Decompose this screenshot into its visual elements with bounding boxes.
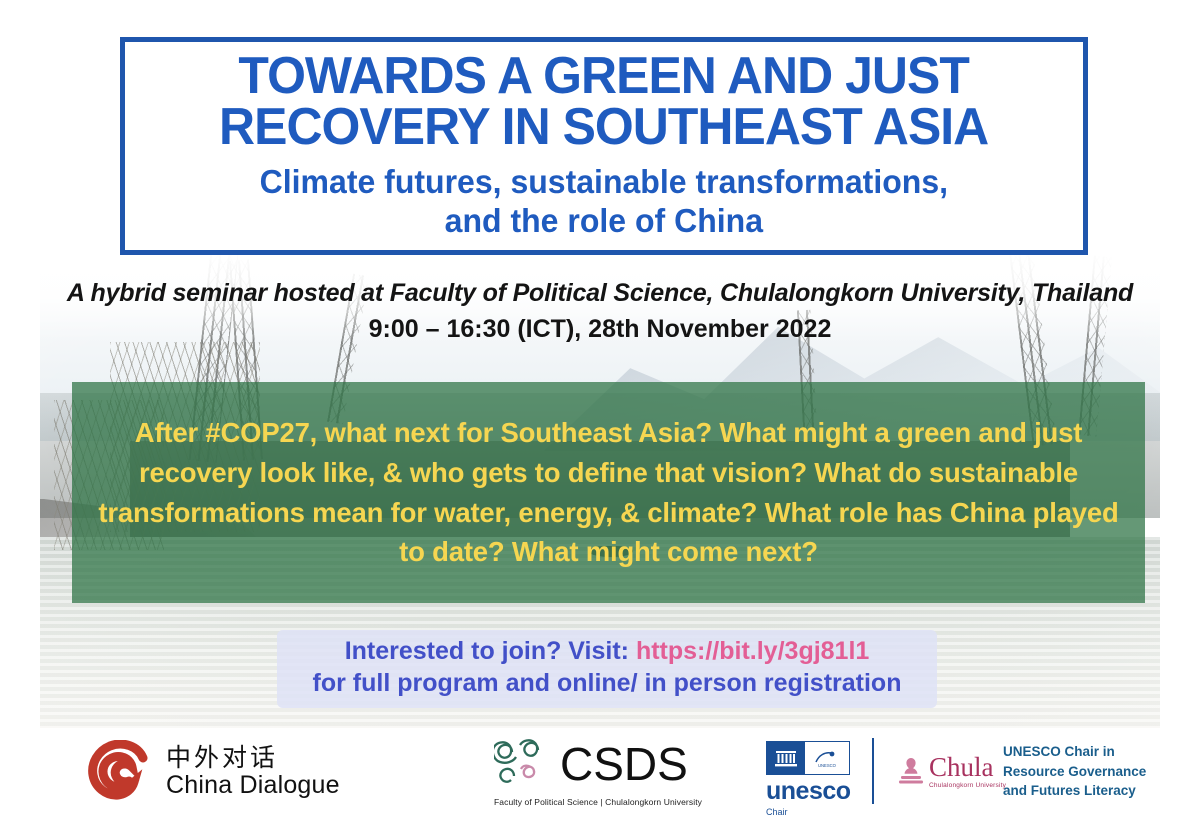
china-dialogue-swirl-icon <box>88 740 154 802</box>
questions-text: After #COP27, what next for Southeast As… <box>72 413 1145 573</box>
unesco-chair-title-line-1: UNESCO Chair in <box>1003 742 1193 762</box>
seminar-host-line: A hybrid seminar hosted at Faculty of Po… <box>0 278 1200 309</box>
china-dialogue-chinese: 中外对话 <box>166 744 340 771</box>
unesco-chair-title-line-2: Resource Governance <box>1003 762 1193 782</box>
title-line-2: RECOVERY IN SOUTHEAST ASIA <box>219 102 988 153</box>
unesco-chair-title: UNESCO Chair in Resource Governance and … <box>1003 742 1193 801</box>
unesco-chair-glyph-icon: UNESCO <box>812 747 842 769</box>
temple-icon <box>774 747 798 769</box>
title-line-1: TOWARDS A GREEN AND JUST <box>219 51 988 102</box>
logo-unesco: UNESCO unesco Chair <box>766 741 851 817</box>
logo-china-dialogue: 中外对话 China Dialogue <box>88 740 340 802</box>
registration-band: Interested to join? Visit: https://bit.l… <box>277 630 937 708</box>
csds-wordmark: CSDS <box>560 741 688 787</box>
registration-link[interactable]: https://bit.ly/3gj81l1 <box>636 637 869 665</box>
subtitle-line-2: and the role of China <box>260 202 948 241</box>
chula-university: Chulalongkorn University <box>929 782 1006 789</box>
chula-name: Chula <box>929 755 1006 781</box>
unesco-emblem: UNESCO <box>766 741 850 775</box>
unesco-chair-label: Chair <box>766 807 788 817</box>
china-dialogue-wordmark: 中外对话 China Dialogue <box>166 744 340 799</box>
event-poster: TOWARDS A GREEN AND JUST RECOVERY IN SOU… <box>0 0 1200 833</box>
title-box: TOWARDS A GREEN AND JUST RECOVERY IN SOU… <box>120 37 1088 255</box>
unesco-wordmark: unesco <box>766 779 851 804</box>
page-title: TOWARDS A GREEN AND JUST RECOVERY IN SOU… <box>219 51 988 153</box>
csds-subtitle: Faculty of Political Science | Chulalong… <box>494 797 702 807</box>
csds-spiral-icon <box>494 736 556 792</box>
registration-line-2: for full program and online/ in person r… <box>287 668 927 700</box>
chula-crest-icon <box>898 755 924 789</box>
footer-divider <box>872 738 874 804</box>
seminar-datetime-line: 9:00 – 16:30 (ICT), 28th November 2022 <box>0 313 1200 346</box>
chula-wordmark: Chula Chulalongkorn University <box>929 755 1006 789</box>
registration-prefix: Interested to join? Visit: <box>345 637 636 665</box>
subtitle-line-1: Climate futures, sustainable transformat… <box>260 163 948 202</box>
logo-csds: CSDS Faculty of Political Science | Chul… <box>494 736 702 807</box>
unesco-temple-icon <box>767 742 805 774</box>
questions-panel: After #COP27, what next for Southeast As… <box>72 382 1145 603</box>
svg-text:UNESCO: UNESCO <box>818 763 837 768</box>
seminar-details: A hybrid seminar hosted at Faculty of Po… <box>0 278 1200 345</box>
china-dialogue-english: China Dialogue <box>166 771 340 799</box>
page-subtitle: Climate futures, sustainable transformat… <box>260 163 948 241</box>
csds-row: CSDS <box>494 736 688 792</box>
logo-chula: Chula Chulalongkorn University <box>898 755 1006 789</box>
unesco-chair-title-line-3: and Futures Literacy <box>1003 781 1193 801</box>
registration-line-1: Interested to join? Visit: https://bit.l… <box>287 636 927 668</box>
unesco-chair-mark: UNESCO <box>805 742 849 774</box>
